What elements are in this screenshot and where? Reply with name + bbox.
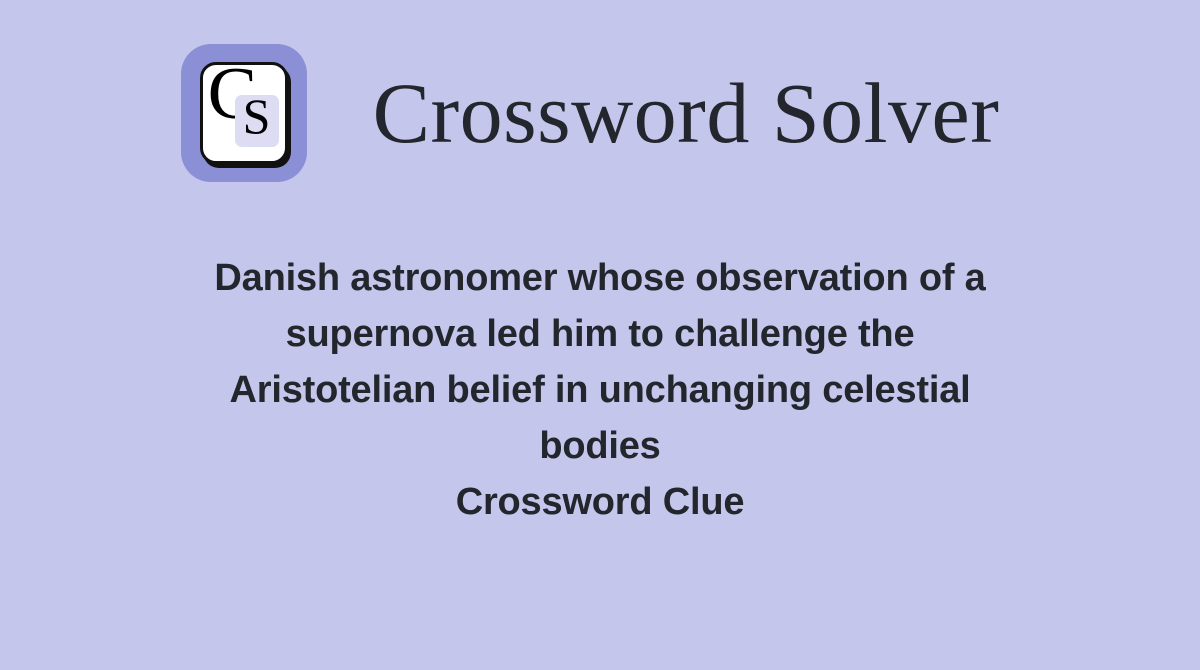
- clue-line: supernova led him to challenge the: [95, 306, 1105, 362]
- clue-block: Danish astronomer whose observation of a…: [95, 250, 1105, 530]
- site-header: C S Crossword Solver: [0, 0, 1200, 226]
- page-root: C S Crossword Solver Danish astronomer w…: [0, 0, 1200, 670]
- crossword-solver-logo-icon[interactable]: C S: [181, 44, 307, 182]
- clue-line: Danish astronomer whose observation of a: [95, 250, 1105, 306]
- clue-line: Aristotelian belief in unchanging celest…: [95, 362, 1105, 418]
- clue-line: bodies: [95, 418, 1105, 474]
- brand-lockup[interactable]: C S Crossword Solver: [181, 44, 1000, 182]
- page-title-suffix: Crossword Clue: [95, 474, 1105, 530]
- logo-letter-s: S: [243, 91, 271, 141]
- site-title: Crossword Solver: [373, 70, 1000, 156]
- logo-tile: C S: [200, 62, 288, 164]
